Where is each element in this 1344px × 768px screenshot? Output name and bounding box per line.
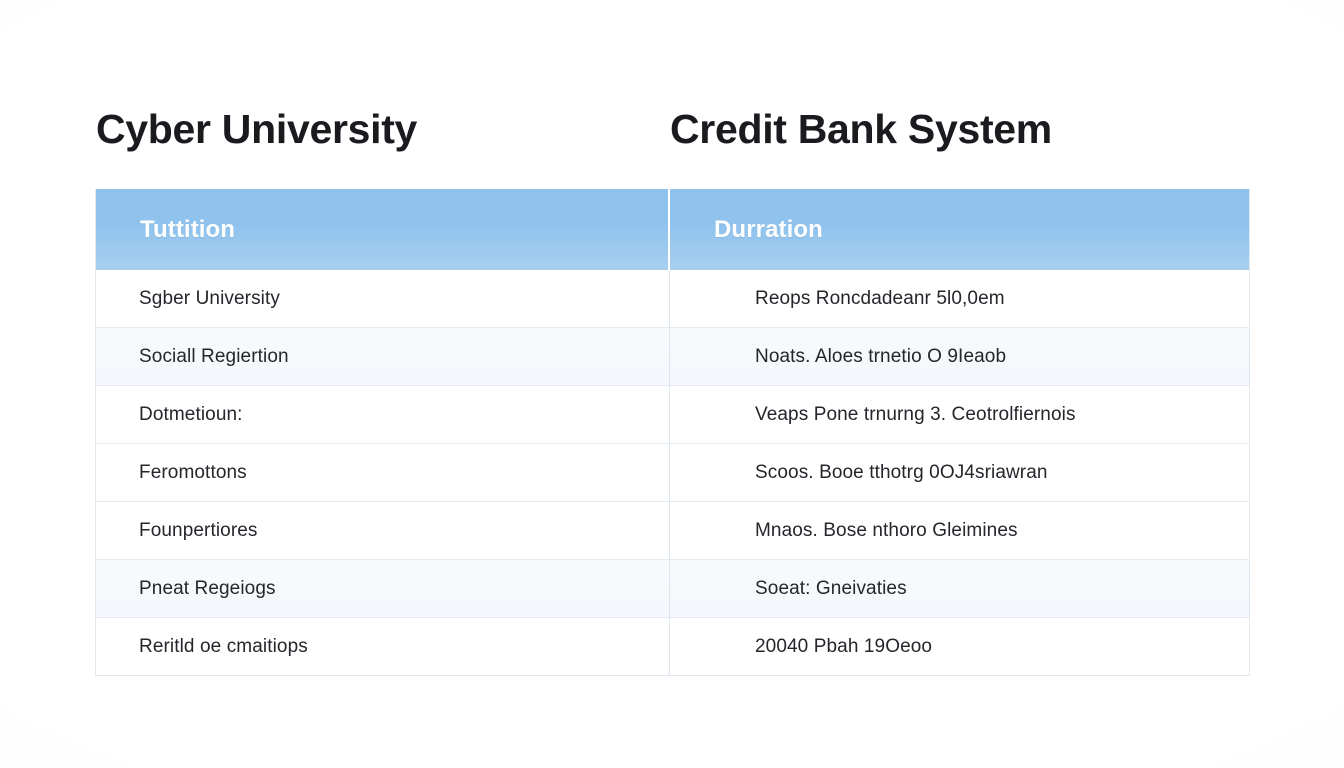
cell-tuition: Reritld oe cmaitiops <box>96 618 670 675</box>
cell-duration: Mnaos. Bose nthoro Gleimines <box>670 502 1249 559</box>
page-title-right: Credit Bank System <box>670 109 1052 150</box>
table-row: Founpertiores Mnaos. Bose nthoro Gleimin… <box>96 501 1249 559</box>
cell-tuition: Feromottons <box>96 444 670 501</box>
cell-duration: Noats. Aloes trnetio O 9Ieaob <box>670 328 1249 385</box>
cell-tuition: Dotmetioun: <box>96 386 670 443</box>
cell-duration: Reops Roncdadeanr 5l0,0em <box>670 270 1249 327</box>
cell-duration: 20040 Pbah 19Oeoo <box>670 618 1249 675</box>
page-headings: Cyber University Credit Bank System <box>96 96 1250 162</box>
table-header-row: Tuttition Durration <box>96 189 1249 270</box>
cell-duration: Soeat: Gneivaties <box>670 560 1249 617</box>
page-title-left: Cyber University <box>96 109 670 150</box>
cell-duration: Veaps Pone trnurng 3. Ceotrolfiernois <box>670 386 1249 443</box>
column-header-tuition: Tuttition <box>96 189 670 270</box>
table-row: Sociall Regiertion Noats. Aloes trnetio … <box>96 327 1249 385</box>
table-row: Dotmetioun: Veaps Pone trnurng 3. Ceotro… <box>96 385 1249 443</box>
document-page: Cyber University Credit Bank System Tutt… <box>0 0 1344 768</box>
comparison-table: Tuttition Durration Sgber University Reo… <box>95 189 1250 676</box>
cell-duration: Scoos. Booe tthotrg 0OJ4sriawran <box>670 444 1249 501</box>
table-row: Feromottons Scoos. Booe tthotrg 0OJ4sria… <box>96 443 1249 501</box>
table-row: Pneat Regeiogs Soeat: Gneivaties <box>96 559 1249 617</box>
table-body: Sgber University Reops Roncdadeanr 5l0,0… <box>96 270 1249 675</box>
column-header-duration: Durration <box>670 189 1249 270</box>
table-row: Reritld oe cmaitiops 20040 Pbah 19Oeoo <box>96 617 1249 675</box>
table-row: Sgber University Reops Roncdadeanr 5l0,0… <box>96 270 1249 327</box>
cell-tuition: Sgber University <box>96 270 670 327</box>
cell-tuition: Founpertiores <box>96 502 670 559</box>
cell-tuition: Sociall Regiertion <box>96 328 670 385</box>
cell-tuition: Pneat Regeiogs <box>96 560 670 617</box>
